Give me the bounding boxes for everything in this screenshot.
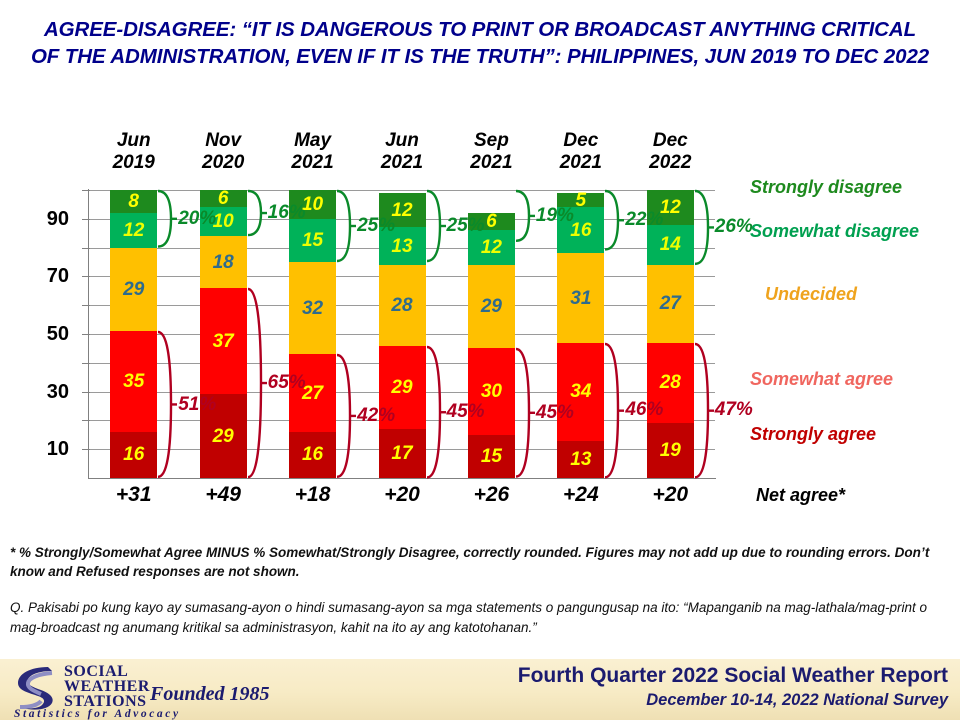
column-header-month: Jun	[91, 130, 177, 152]
bar-segment-value: 30	[481, 382, 502, 401]
legend-somewhat-disagree: Somewhat disagree	[750, 221, 919, 242]
net-agree-value: +20	[359, 483, 445, 507]
net-agree-value: +49	[180, 483, 266, 507]
column-header-month: Dec	[538, 130, 624, 152]
value-bracket	[427, 346, 446, 478]
total-agree-label: 65%	[268, 372, 306, 394]
bar-segment[interactable]: 27	[647, 265, 694, 343]
bar-segment-value: 12	[123, 221, 144, 240]
y-tick-label: 10	[9, 438, 69, 461]
column-header-year: 2022	[627, 152, 713, 174]
bar-segment-value: 34	[570, 382, 591, 401]
column-header-month: Jun	[359, 130, 445, 152]
footer-title: Fourth Quarter 2022 Social Weather Repor…	[518, 664, 948, 688]
bar-segment-value: 15	[481, 447, 502, 466]
x-axis-line	[88, 478, 716, 479]
stacked-bar[interactable]: 1015322716	[289, 190, 336, 478]
value-bracket	[516, 190, 535, 242]
question-text: Q. Pakisabi po kung kayo ay sumasang-ayo…	[10, 598, 940, 638]
bar-segment[interactable]: 35	[110, 331, 157, 432]
bar-segment-value: 29	[213, 427, 234, 446]
bar-segment-value: 18	[213, 253, 234, 272]
column-header: Jun2019	[91, 130, 177, 174]
bar-segment-value: 31	[570, 289, 591, 308]
column-header-year: 2021	[359, 152, 445, 174]
value-bracket	[337, 354, 356, 478]
bar-segment[interactable]: 6	[200, 190, 247, 207]
column-header-year: 2019	[91, 152, 177, 174]
bar-segment[interactable]: 17	[379, 429, 426, 478]
legend-somewhat-agree: Somewhat agree	[750, 369, 893, 390]
bar-segment[interactable]: 16	[289, 432, 336, 478]
bar-segment[interactable]: 13	[557, 441, 604, 478]
net-agree-value: +24	[538, 483, 624, 507]
value-bracket	[605, 343, 624, 478]
bar-segment-value: 19	[660, 441, 681, 460]
column-header-month: Sep	[448, 130, 534, 152]
column-header: May2021	[270, 130, 356, 174]
value-bracket	[427, 190, 446, 262]
bar-segment-value: 17	[391, 444, 412, 463]
column-header: Dec2022	[627, 130, 713, 174]
bar-segment[interactable]: 29	[468, 265, 515, 349]
value-bracket	[605, 190, 624, 250]
bar-segment[interactable]: 37	[200, 288, 247, 395]
sws-swoosh-icon	[8, 661, 60, 713]
value-bracket	[695, 190, 714, 265]
bar-segment-value: 32	[302, 299, 323, 318]
total-disagree-label: 25%	[357, 215, 395, 237]
stacked-bar[interactable]: 610183729	[200, 190, 247, 478]
logo-tagline: Statistics for Advocacy	[14, 708, 181, 720]
bar-segment-value: 12	[481, 238, 502, 257]
bar-segment[interactable]: 34	[557, 343, 604, 441]
column-header-year: 2021	[538, 152, 624, 174]
column-header: Nov2020	[180, 130, 266, 174]
bar-segment[interactable]: 15	[468, 435, 515, 478]
bar-segment[interactable]: 32	[289, 262, 336, 354]
total-agree-label: 42%	[357, 405, 395, 427]
bar-segment-value: 13	[391, 237, 412, 256]
value-bracket	[158, 190, 177, 248]
footnote: * % Strongly/Somewhat Agree MINUS % Some…	[10, 543, 940, 581]
stacked-bar[interactable]: 516313413	[557, 193, 604, 478]
total-agree-label: 47%	[715, 399, 753, 421]
y-tick-label: 30	[9, 381, 69, 404]
bar-segment-value: 29	[481, 297, 502, 316]
net-agree-value: +31	[91, 483, 177, 507]
net-agree-label: Net agree*	[756, 485, 845, 506]
column-header-month: May	[270, 130, 356, 152]
net-agree-value: +26	[448, 483, 534, 507]
column-header-year: 2021	[448, 152, 534, 174]
value-bracket	[516, 348, 535, 478]
footer-subtitle: December 10-14, 2022 National Survey	[646, 691, 948, 710]
total-disagree-label: 25%	[447, 215, 485, 237]
bar-segment-value: 35	[123, 372, 144, 391]
sws-logo: SOCIAL WEATHER STATIONS Founded 1985 Sta…	[8, 661, 278, 718]
total-agree-label: 45%	[447, 401, 485, 423]
stacked-bar[interactable]: 1214272819	[647, 190, 694, 478]
bar-segment[interactable]: 15	[289, 219, 336, 262]
bar-segment-value: 27	[660, 294, 681, 313]
bar-segment[interactable]: 18	[200, 236, 247, 288]
total-disagree-label: 26%	[715, 216, 753, 238]
total-agree-label: 46%	[625, 399, 663, 421]
bar-segment-value: 29	[391, 378, 412, 397]
y-tick-label: 90	[9, 208, 69, 231]
bar-segment[interactable]: 19	[647, 423, 694, 478]
y-tick-label: 50	[9, 323, 69, 346]
value-bracket	[337, 190, 356, 262]
net-agree-value: +20	[627, 483, 713, 507]
logo-founded: Founded 1985	[150, 683, 269, 706]
value-bracket	[248, 288, 267, 478]
total-disagree-label: 22%	[625, 209, 663, 231]
column-header-year: 2021	[270, 152, 356, 174]
value-bracket	[695, 343, 714, 478]
total-disagree-label: 16%	[268, 202, 306, 224]
bar-segment-value: 29	[123, 280, 144, 299]
bar-segment-value: 16	[302, 445, 323, 464]
bar-segment-value: 13	[570, 450, 591, 469]
column-header-month: Dec	[627, 130, 713, 152]
legend-undecided: Undecided	[765, 284, 857, 305]
stacked-bar[interactable]: 612293015	[468, 213, 515, 478]
total-disagree-label: 20%	[178, 208, 216, 230]
bar-segment-value: 6	[486, 212, 497, 231]
footer-bar: SOCIAL WEATHER STATIONS Founded 1985 Sta…	[0, 659, 960, 720]
bar-segment-value: 28	[660, 373, 681, 392]
column-header: Jun2021	[359, 130, 445, 174]
value-bracket	[158, 331, 177, 478]
bar-segment[interactable]: 12	[110, 213, 157, 248]
net-agree-value: +18	[270, 483, 356, 507]
bar-segment-value: 28	[391, 296, 412, 315]
bar-segment[interactable]: 29	[110, 248, 157, 332]
bar-segment[interactable]: 8	[110, 190, 157, 213]
stacked-bar[interactable]: 812293516	[110, 190, 157, 478]
column-header: Dec2021	[538, 130, 624, 174]
column-header: Sep2021	[448, 130, 534, 174]
y-tick-label: 70	[9, 265, 69, 288]
bar-segment-value: 6	[218, 189, 229, 208]
bar-segment-value: 37	[213, 332, 234, 351]
bar-segment-value: 16	[123, 445, 144, 464]
total-agree-label: 51%	[178, 394, 216, 416]
column-header-year: 2020	[180, 152, 266, 174]
legend-strongly-disagree: Strongly disagree	[750, 177, 902, 198]
chart-plot: 1030507090 % of adults Jun2019Nov2020May…	[0, 0, 960, 540]
total-agree-label: 45%	[536, 402, 574, 424]
legend-strongly-agree: Strongly agree	[750, 424, 876, 445]
bar-segment[interactable]: 28	[379, 265, 426, 346]
bar-segment-value: 15	[302, 231, 323, 250]
bar-segment-value: 8	[128, 192, 139, 211]
bar-segment[interactable]: 31	[557, 253, 604, 342]
column-header-month: Nov	[180, 130, 266, 152]
bar-segment-value: 14	[660, 235, 681, 254]
bar-segment[interactable]: 16	[110, 432, 157, 478]
total-disagree-label: 19%	[536, 205, 574, 227]
value-bracket	[248, 190, 267, 236]
